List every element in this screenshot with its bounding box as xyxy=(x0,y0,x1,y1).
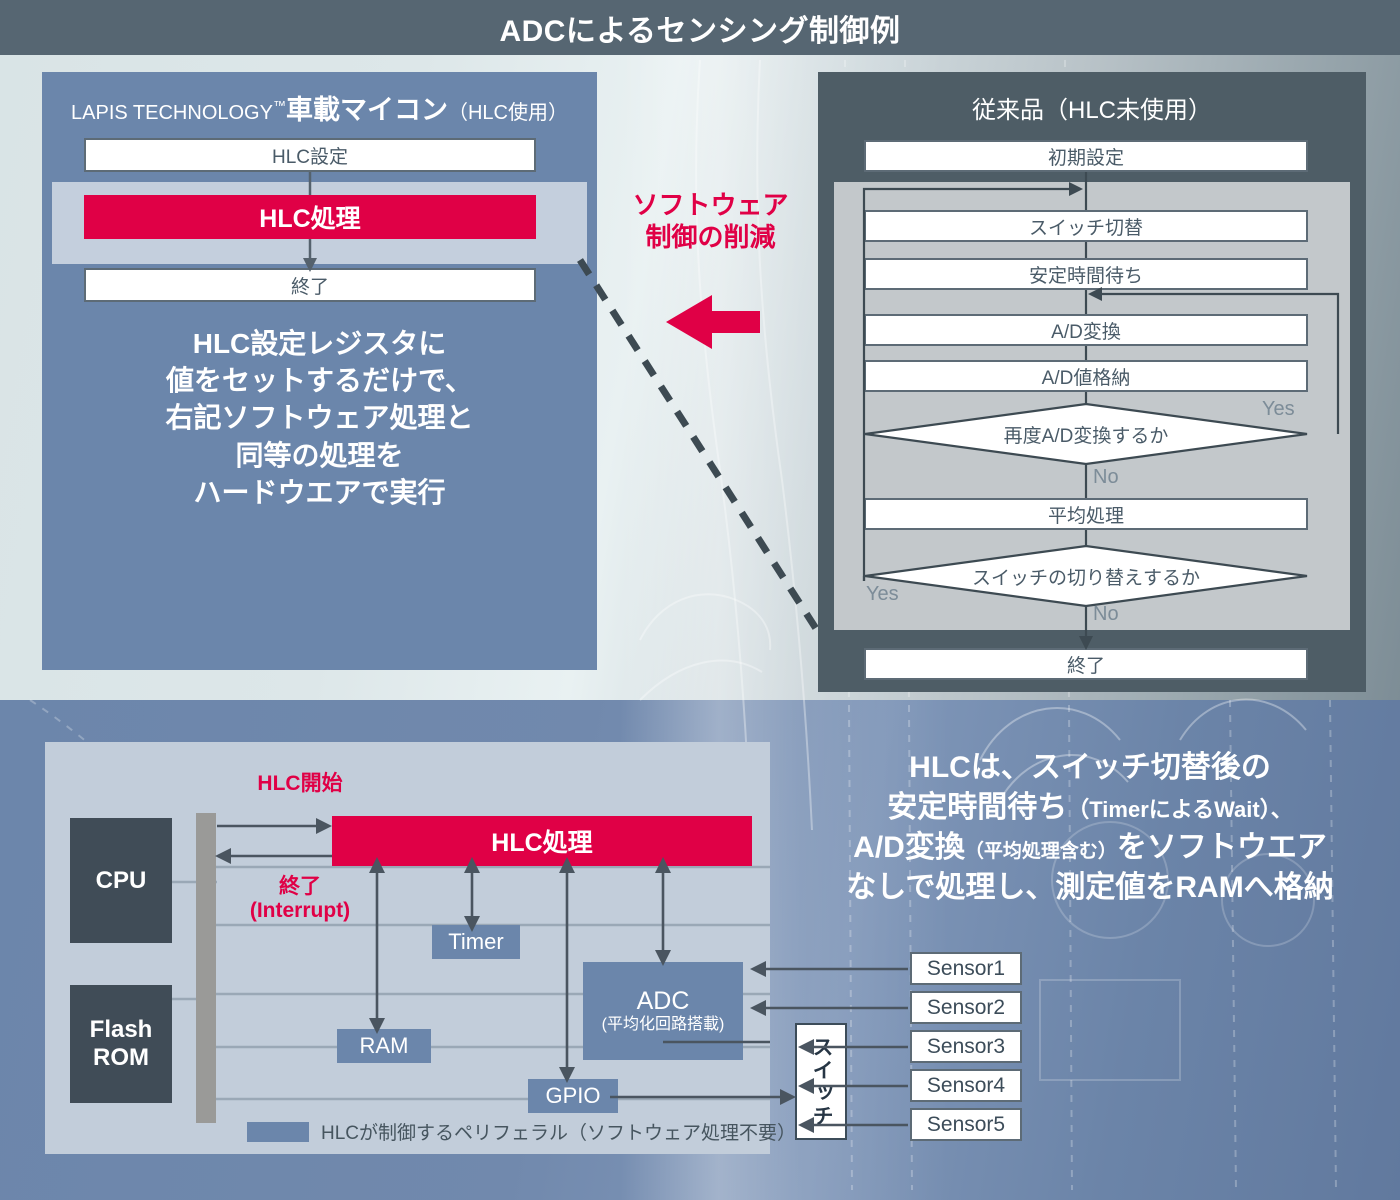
arrowhead-left-icon xyxy=(798,1078,814,1094)
arrowhead-left-icon xyxy=(798,1117,814,1133)
arrowhead-down-icon xyxy=(559,1067,575,1083)
bottom-right-line-3a: A/D変換 xyxy=(853,831,965,864)
left-panel-description-line: ハードウエアで実行 xyxy=(52,474,587,511)
bottom-right-description: HLCは、スイッチ切替後の 安定時間待ち（TimerによるWait）、 A/D変… xyxy=(800,748,1380,908)
left-panel-description: HLC設定レジスタに値をセットするだけで、右記ソフトウェア処理と同等の処理をハー… xyxy=(52,325,587,511)
arrowhead-left-icon xyxy=(750,961,766,977)
branch-label-switch-no: No xyxy=(1093,603,1119,626)
arrowhead-up-icon xyxy=(369,857,385,873)
legend-color-swatch xyxy=(247,1122,309,1142)
bottom-right-line-3c: をソフトウエア xyxy=(1117,831,1327,864)
arrowhead-down-icon xyxy=(1079,636,1093,650)
arrowhead-down-icon xyxy=(464,916,480,932)
arrowhead-up-icon xyxy=(655,857,671,873)
arrowhead-down-icon xyxy=(655,950,671,966)
branch-label-again-no: No xyxy=(1093,466,1119,489)
bottom-right-line-3b: （平均処理含む） xyxy=(965,841,1117,862)
left-arrow-icon xyxy=(666,295,760,349)
bottom-right-line-2: 安定時間待ち（TimerによるWait）、 xyxy=(800,788,1380,828)
left-panel-description-line: 右記ソフトウェア処理と xyxy=(52,399,587,436)
arrowhead-up-icon xyxy=(464,857,480,873)
page-title: ADCによるセンシング制御例 xyxy=(0,0,1400,55)
bottom-right-line-2b: （TimerによるWait）、 xyxy=(1067,797,1292,822)
legend-label: HLCが制御するペリフェラル（ソフトウェア処理不要） xyxy=(321,1118,796,1145)
arrowhead-left-icon xyxy=(798,1039,814,1055)
arrowhead-up-icon xyxy=(559,857,575,873)
middle-callout-line1: ソフトウェア xyxy=(608,190,813,222)
arrowhead-right-icon xyxy=(316,818,332,834)
left-panel-description-line: 値をセットするだけで、 xyxy=(52,362,587,399)
diagram-canvas: ADCによるセンシング制御例 LAPIS TECHNOLOGY™車載マイコン（H… xyxy=(0,0,1400,1200)
arrowhead-left-icon xyxy=(215,848,231,864)
arrowhead-right-icon xyxy=(1069,182,1083,196)
right-flow-connectors xyxy=(818,72,1366,692)
arrowhead-left-icon xyxy=(1088,287,1102,301)
arrowhead-left-icon xyxy=(750,1000,766,1016)
branch-label-again-yes: Yes xyxy=(1262,398,1295,421)
bottom-right-line-4: なしで処理し、測定値をRAMへ格納 xyxy=(800,868,1380,908)
bottom-right-line-1: HLCは、スイッチ切替後の xyxy=(800,748,1380,788)
arrowhead-down-icon xyxy=(369,1018,385,1034)
bottom-right-line-3: A/D変換（平均処理含む）をソフトウエア xyxy=(800,828,1380,868)
block-diagram-legend: HLCが制御するペリフェラル（ソフトウェア処理不要） xyxy=(247,1118,796,1145)
bottom-right-line-2a: 安定時間待ち xyxy=(887,791,1067,824)
left-panel-description-line: 同等の処理を xyxy=(52,437,587,474)
left-panel-description-line: HLC設定レジスタに xyxy=(52,325,587,362)
arrowhead-down-icon xyxy=(303,258,317,272)
middle-graphics xyxy=(560,240,840,660)
branch-label-switch-yes: Yes xyxy=(866,583,899,606)
